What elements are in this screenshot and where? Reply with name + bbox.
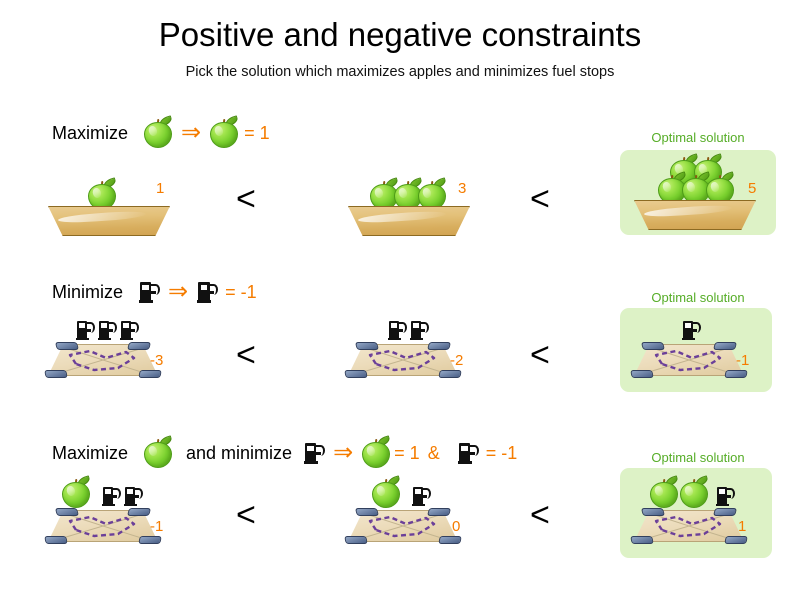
apple-icon	[650, 478, 678, 508]
comparator-less-than: <	[530, 182, 550, 216]
pump-window	[123, 323, 129, 328]
pump-nozzle	[209, 291, 214, 294]
solution-score: -1	[150, 518, 163, 535]
pump-base	[98, 338, 111, 340]
optimal-solution-label: Optimal solution	[613, 130, 783, 145]
solution-map-apples-1[interactable]: -1	[48, 478, 228, 554]
map-pin	[44, 536, 67, 544]
pump-nozzle	[423, 495, 427, 497]
pump-nozzle	[316, 452, 321, 455]
map-pin	[725, 536, 748, 544]
page-title: Positive and negative constraints	[0, 16, 800, 54]
legend-conjunction: and minimize	[186, 443, 292, 464]
pump-base	[76, 338, 89, 340]
pump-base	[716, 504, 729, 506]
map-pin	[127, 508, 151, 516]
comparator-less-than: <	[530, 338, 550, 372]
solution-score: -2	[450, 352, 463, 369]
legend-equals: = -1	[225, 282, 257, 303]
map-pin	[139, 370, 162, 378]
map-pin	[355, 342, 379, 350]
legend-equals-2: = -1	[486, 443, 518, 464]
fuel-pump-icon	[412, 486, 430, 506]
solution-score: -3	[150, 352, 163, 369]
pump-base	[682, 338, 695, 340]
pump-window	[127, 489, 133, 494]
bowl-icon	[48, 206, 170, 236]
map-pin	[439, 536, 462, 544]
solution-score: 3	[458, 180, 466, 197]
comparator-less-than: <	[530, 498, 550, 532]
solution-map-2[interactable]: -2	[348, 320, 528, 390]
fuel-pump-icon	[197, 281, 217, 303]
legend-verb: Minimize	[52, 282, 123, 303]
pump-base	[388, 338, 401, 340]
map-pin	[713, 342, 737, 350]
apple-icon	[372, 478, 400, 508]
map-pin	[344, 370, 367, 378]
apple-icon	[680, 478, 708, 508]
fuel-pump-icon	[388, 320, 406, 340]
implies-arrow-icon: ⇒	[333, 441, 353, 465]
pump-base	[410, 338, 423, 340]
legend-row-2: Minimize ⇒ = -1	[52, 280, 257, 304]
comparator-less-than: <	[236, 338, 256, 372]
legend-row-3: Maximize and minimize ⇒ = 1 & = -1	[52, 438, 517, 468]
pump-nozzle	[399, 329, 403, 331]
legend-verb: Maximize	[52, 443, 128, 464]
map-pin	[630, 370, 653, 378]
bowl-icon	[348, 206, 470, 236]
pump-base	[120, 338, 133, 340]
pump-window	[415, 489, 421, 494]
pump-window	[685, 323, 691, 328]
pump-window	[101, 323, 107, 328]
fuel-pump-icon	[76, 320, 94, 340]
apple-body	[680, 482, 708, 508]
pump-nozzle	[151, 291, 156, 294]
pump-base	[124, 504, 137, 506]
pump-nozzle	[131, 329, 135, 331]
map-pin	[427, 342, 451, 350]
legend-row-1: Maximize ⇒ = 1	[52, 118, 270, 148]
pump-base	[412, 504, 425, 506]
pump-window	[79, 323, 85, 328]
solution-score: 1	[738, 518, 746, 535]
legend-equals: = 1	[244, 123, 270, 144]
solution-score: 0	[452, 518, 460, 535]
pump-base	[139, 300, 153, 303]
apple-body	[62, 482, 90, 508]
pump-window	[413, 323, 419, 328]
pump-base	[197, 300, 211, 303]
pump-window	[142, 285, 149, 290]
page-subtitle: Pick the solution which maximizes apples…	[0, 64, 800, 80]
fuel-pump-icon	[120, 320, 138, 340]
pump-nozzle	[727, 495, 731, 497]
solution-map-apples-3-optimal[interactable]: 1	[634, 478, 784, 554]
map-pin	[641, 342, 665, 350]
apple-body	[144, 122, 172, 148]
pump-nozzle	[470, 452, 475, 455]
map-route-icon	[348, 510, 458, 542]
apple-icon	[62, 478, 90, 508]
map-pin	[630, 536, 653, 544]
legend-ampersand: &	[428, 443, 440, 464]
map-pin	[44, 370, 67, 378]
fuel-pump-icon	[102, 486, 120, 506]
apple-body	[362, 442, 390, 468]
map-pin	[725, 370, 748, 378]
map-pin	[139, 536, 162, 544]
map-pin	[55, 508, 79, 516]
legend-equals: = 1	[394, 443, 420, 464]
apple-icon	[210, 118, 238, 148]
solution-score: -1	[736, 352, 749, 369]
solution-map-3-optimal[interactable]: -1	[634, 320, 784, 390]
pump-window	[201, 285, 208, 290]
fuel-pump-icon	[682, 320, 700, 340]
fuel-pump-icon	[716, 486, 734, 506]
fuel-pump-icon	[304, 442, 324, 464]
comparator-less-than: <	[236, 182, 256, 216]
solution-map-apples-2[interactable]: 0	[348, 478, 528, 554]
slide-canvas: Positive and negative constraints Pick t…	[0, 0, 800, 600]
fuel-pump-icon	[410, 320, 428, 340]
map-route-icon	[634, 510, 744, 542]
pump-nozzle	[113, 495, 117, 497]
pump-window	[105, 489, 111, 494]
apple-body	[372, 482, 400, 508]
apple-icon	[144, 118, 172, 148]
solution-bowl-3-optimal[interactable]: 5	[634, 154, 784, 234]
fuel-pump-icon	[98, 320, 116, 340]
map-pin	[427, 508, 451, 516]
solution-map-1[interactable]: -3	[48, 320, 228, 390]
pump-window	[307, 446, 314, 451]
map-pin	[641, 508, 665, 516]
map-pin	[713, 508, 737, 516]
pump-nozzle	[135, 495, 139, 497]
pump-nozzle	[693, 329, 697, 331]
pump-base	[458, 461, 472, 464]
pump-base	[304, 461, 318, 464]
apple-body	[650, 482, 678, 508]
solution-score: 1	[156, 180, 164, 197]
map-route-icon	[48, 510, 158, 542]
solution-bowl-2[interactable]: 3	[348, 168, 528, 238]
pump-nozzle	[421, 329, 425, 331]
implies-arrow-icon: ⇒	[181, 121, 201, 145]
implies-arrow-icon: ⇒	[168, 280, 188, 304]
pump-window	[391, 323, 397, 328]
map-route-icon	[634, 344, 744, 376]
map-pin	[344, 536, 367, 544]
map-pin	[439, 370, 462, 378]
apple-icon	[144, 438, 172, 468]
fuel-pump-icon	[458, 442, 478, 464]
optimal-solution-label: Optimal solution	[613, 290, 783, 305]
map-pin	[355, 508, 379, 516]
map-route-icon	[48, 344, 158, 376]
map-pin	[55, 342, 79, 350]
apple-body	[210, 122, 238, 148]
pump-window	[719, 489, 725, 494]
pump-nozzle	[109, 329, 113, 331]
solution-score: 5	[748, 180, 756, 197]
legend-verb: Maximize	[52, 123, 128, 144]
pump-window	[461, 446, 468, 451]
optimal-solution-label: Optimal solution	[613, 450, 783, 465]
apple-icon	[362, 438, 390, 468]
fuel-pump-icon	[139, 281, 159, 303]
pump-base	[102, 504, 115, 506]
bowl-icon	[634, 200, 756, 230]
map-pin	[127, 342, 151, 350]
comparator-less-than: <	[236, 498, 256, 532]
map-route-icon	[348, 344, 458, 376]
solution-bowl-1[interactable]: 1	[48, 168, 218, 238]
pump-nozzle	[87, 329, 91, 331]
apple-body	[144, 442, 172, 468]
fuel-pump-icon	[124, 486, 142, 506]
